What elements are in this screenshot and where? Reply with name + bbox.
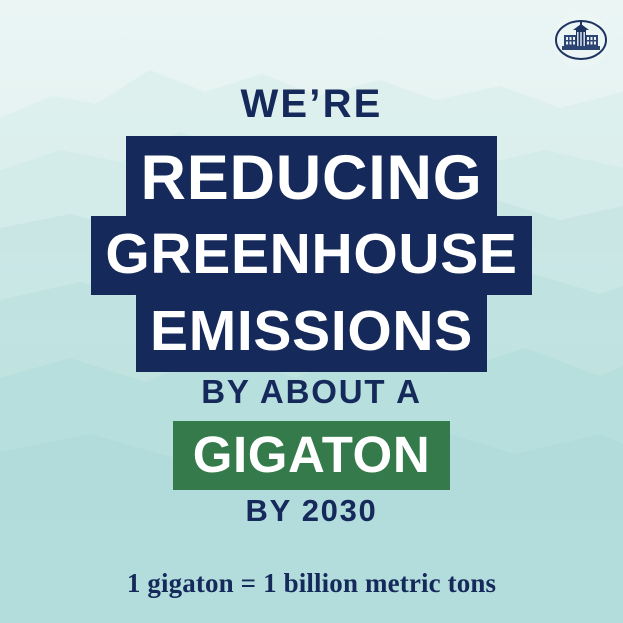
headline-text-were: WE’RE — [240, 82, 382, 126]
headline-text-by-2030: BY 2030 — [245, 493, 377, 528]
headline-line-by-2030: BY 2030 — [0, 495, 623, 526]
headline-text-reducing: REDUCING — [126, 136, 496, 223]
headline-line-gigaton: GIGATON — [0, 421, 623, 490]
headline-text-by-about-a: BY ABOUT A — [201, 373, 421, 410]
headline-line-greenhouse: GREENHOUSE — [0, 216, 623, 295]
headline-line-by-about-a: BY ABOUT A — [0, 375, 623, 408]
white-house-seal-icon — [552, 11, 610, 69]
poster-graphic: WE’RE REDUCING GREENHOUSE EMISSIONS BY A… — [0, 0, 623, 623]
headline-line-were: WE’RE — [0, 84, 623, 124]
footnote: 1 gigaton = 1 billion metric tons — [0, 570, 623, 597]
headline-text-greenhouse: GREENHOUSE — [91, 216, 531, 295]
headline-text-emissions: EMISSIONS — [136, 293, 487, 372]
headline-line-emissions: EMISSIONS — [0, 293, 623, 372]
headline-line-reducing: REDUCING — [0, 136, 623, 223]
headline-text-gigaton: GIGATON — [173, 421, 451, 490]
